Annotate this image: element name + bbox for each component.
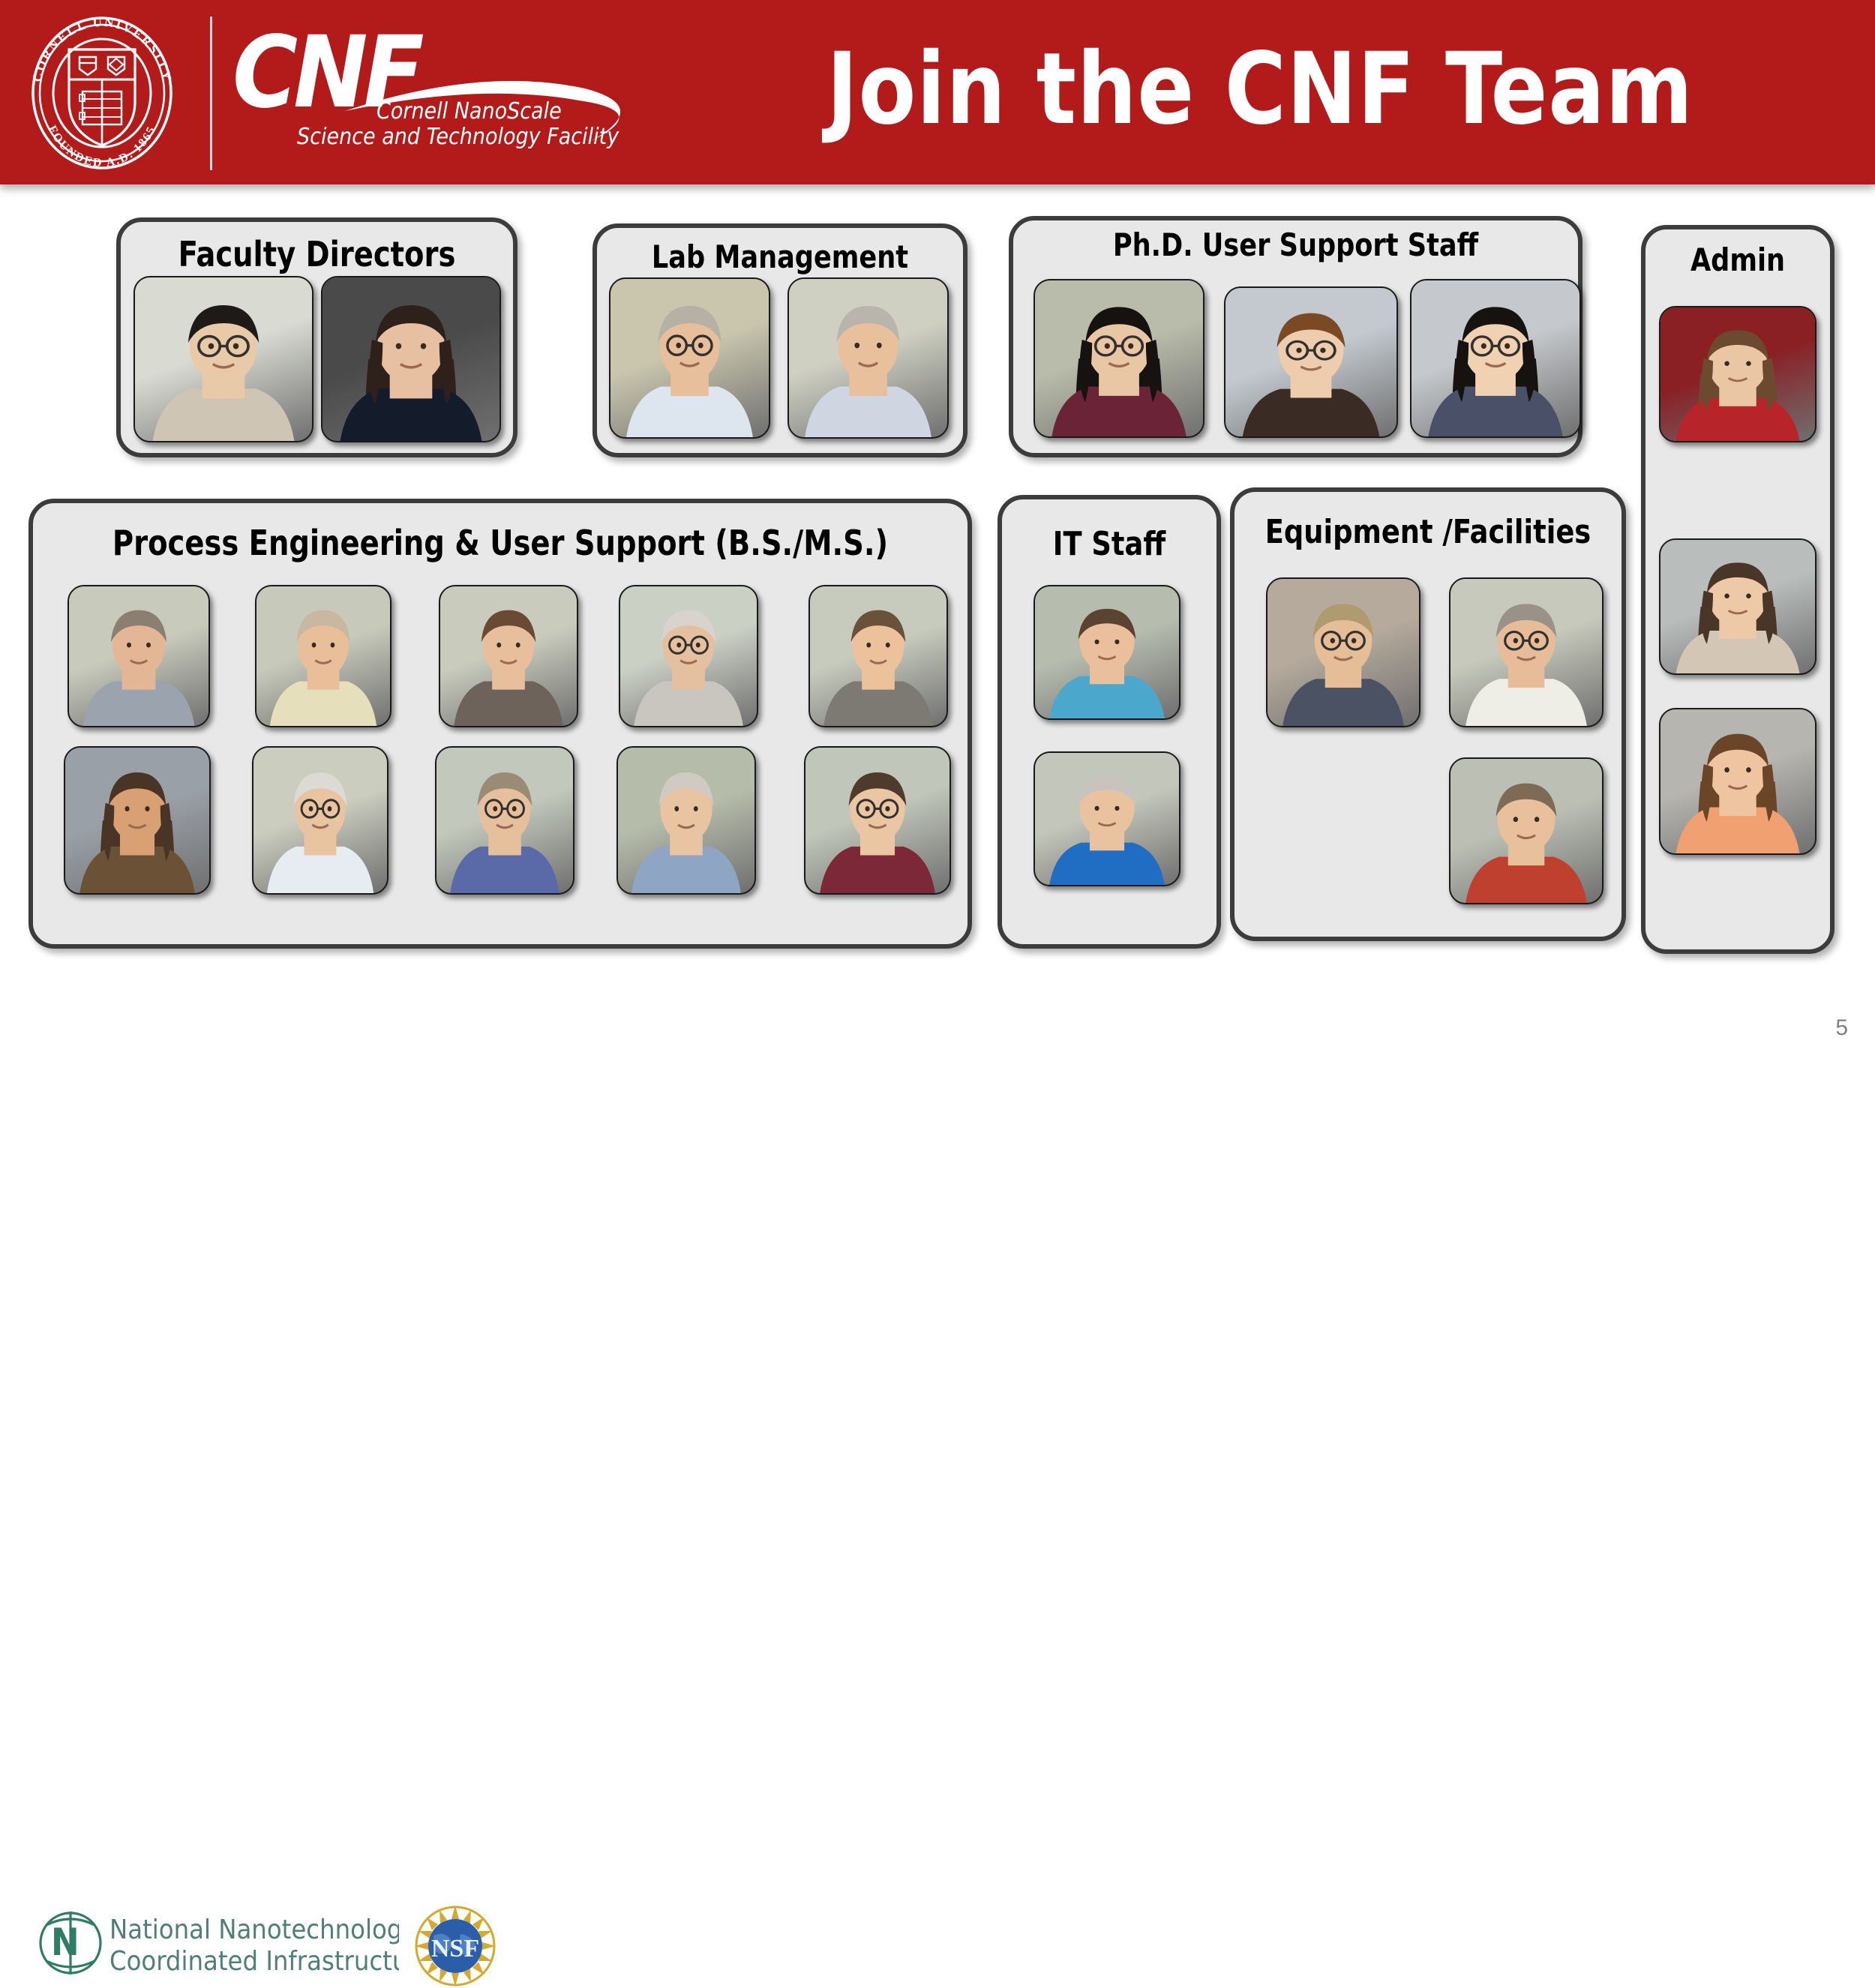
portrait-figure bbox=[610, 279, 769, 437]
cnf-logo-icon: CNF Cornell NanoScale Science and Techno… bbox=[232, 22, 660, 165]
nnci-line1: National Nanotechnology bbox=[109, 1915, 399, 1945]
portrait-photo bbox=[1033, 751, 1180, 886]
cnf-subtitle-line1: Cornell NanoScale bbox=[376, 98, 562, 124]
portrait-photo bbox=[1659, 708, 1816, 855]
group-title-phd-user-support-staff: Ph.D. User Support Staff bbox=[1033, 229, 1558, 261]
group-title-it-staff: IT Staff bbox=[1009, 528, 1209, 561]
portrait-figure bbox=[436, 748, 573, 893]
portrait-photo bbox=[1449, 757, 1603, 904]
portrait-figure bbox=[1450, 759, 1602, 903]
nsf-logo-icon: NSF bbox=[411, 1904, 499, 1988]
portrait-figure bbox=[322, 277, 499, 441]
portrait-photo bbox=[619, 585, 758, 727]
group-title-faculty-directors: Faculty Directors bbox=[134, 237, 499, 271]
portrait-photo bbox=[1266, 577, 1420, 727]
portrait-figure bbox=[65, 748, 209, 893]
portrait-photo bbox=[435, 746, 574, 895]
portrait-figure bbox=[1660, 307, 1815, 441]
portrait-figure bbox=[1225, 288, 1396, 436]
portrait-figure bbox=[1267, 579, 1419, 726]
portrait-photo bbox=[1659, 538, 1816, 675]
portrait-figure bbox=[256, 586, 390, 726]
nnci-logo-icon: N National Nanotechnology Coordinated In… bbox=[31, 1906, 399, 1981]
portrait-figure bbox=[805, 748, 949, 893]
portrait-figure bbox=[1035, 753, 1179, 885]
portrait-figure bbox=[789, 279, 947, 437]
portrait-photo bbox=[321, 276, 501, 442]
portrait-photo bbox=[787, 277, 949, 439]
portrait-figure bbox=[440, 586, 577, 726]
portrait-photo bbox=[1033, 585, 1180, 720]
portrait-figure bbox=[1411, 280, 1579, 436]
portrait-figure bbox=[1450, 579, 1602, 726]
portrait-photo bbox=[1224, 286, 1398, 438]
portrait-photo bbox=[609, 277, 770, 439]
svg-text:N: N bbox=[51, 1921, 79, 1964]
portrait-figure bbox=[1660, 709, 1815, 853]
portrait-photo bbox=[616, 746, 756, 895]
portrait-photo bbox=[1410, 279, 1581, 438]
portrait-photo bbox=[1449, 577, 1603, 727]
group-title-admin: Admin bbox=[1652, 244, 1824, 276]
portrait-photo bbox=[439, 585, 578, 727]
portrait-photo bbox=[64, 746, 211, 895]
portrait-photo bbox=[1659, 306, 1816, 442]
portrait-figure bbox=[1660, 540, 1815, 673]
portrait-photo bbox=[133, 276, 313, 442]
portrait-photo bbox=[808, 585, 948, 727]
header-divider bbox=[210, 16, 212, 170]
portrait-photo bbox=[252, 746, 388, 895]
page-number: 5 bbox=[1835, 1015, 1848, 1041]
portrait-figure bbox=[253, 748, 387, 893]
portrait-figure bbox=[618, 748, 754, 893]
portrait-figure bbox=[1035, 586, 1179, 718]
portrait-figure bbox=[135, 277, 312, 441]
portrait-figure bbox=[69, 586, 208, 726]
cnf-subtitle-line2: Science and Technology Facility bbox=[297, 124, 619, 150]
portrait-photo bbox=[255, 585, 391, 727]
portrait-figure bbox=[620, 586, 757, 726]
portrait-figure bbox=[810, 586, 946, 726]
slide-footer: N National Nanotechnology Coordinated In… bbox=[0, 942, 1875, 1054]
page-title: Join the CNF Team bbox=[696, 6, 1824, 172]
group-title-equipment-facilities: Equipment /Facilities bbox=[1248, 516, 1608, 549]
portrait-photo bbox=[67, 585, 210, 727]
cornell-university-seal-icon: CORNELL UNIVERSITY FOUNDED A.D. 1865 bbox=[16, 13, 187, 172]
group-title-lab-management: Lab Management bbox=[610, 241, 950, 273]
slide-header-bar: CORNELL UNIVERSITY FOUNDED A.D. 1865 CNF bbox=[0, 0, 1875, 184]
portrait-photo bbox=[804, 746, 951, 895]
group-title-process-engineering-user-support: Process Engineering & User Support (B.S.… bbox=[66, 526, 935, 560]
nnci-line2: Coordinated Infrastructure bbox=[109, 1946, 399, 1977]
nsf-wordmark: NSF bbox=[431, 1935, 479, 1963]
portrait-figure bbox=[1035, 280, 1203, 436]
portrait-photo bbox=[1033, 279, 1204, 438]
